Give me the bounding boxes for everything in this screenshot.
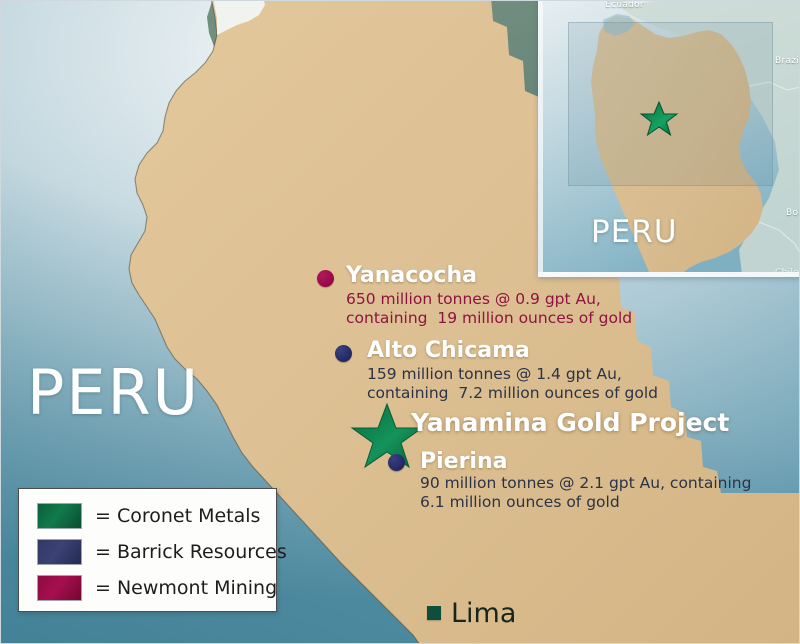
- inset-locator-map[interactable]: Ecuador Brazil Bol Chile PERU: [538, 0, 800, 277]
- site-name-yanacocha: Yanacocha: [346, 263, 477, 288]
- site-desc-alto-chicama-line1: 159 million tonnes @ 1.4 gpt Au,: [367, 364, 622, 384]
- project-name-label: Yanamina Gold Project: [411, 408, 729, 437]
- site-desc-yanacocha-line1: 650 million tonnes @ 0.9 gpt Au,: [346, 289, 601, 309]
- site-name-alto-chicama: Alto Chicama: [367, 338, 530, 363]
- legend-swatch-newmont-mining: [37, 575, 82, 601]
- legend-panel: = Coronet Metals = Barrick Resources = N…: [18, 488, 277, 612]
- legend-item-newmont-mining[interactable]: = Newmont Mining: [19, 570, 276, 606]
- site-desc-pierina-line2: 6.1 million ounces of gold: [420, 492, 620, 512]
- legend-swatch-barrick-resources: [37, 539, 82, 565]
- legend-label-newmont-mining: = Newmont Mining: [95, 577, 277, 599]
- legend-label-coronet-metals: = Coronet Metals: [95, 505, 260, 527]
- site-name-pierina: Pierina: [420, 449, 507, 474]
- inset-label-brazil: Brazil: [775, 56, 800, 66]
- capital-square-icon: [427, 606, 441, 620]
- country-label-peru: PERU: [27, 356, 200, 429]
- inset-project-star-icon: [638, 98, 680, 140]
- barrick-dot-icon-alto-chicama: [335, 345, 352, 362]
- legend-label-barrick-resources: = Barrick Resources: [95, 541, 287, 563]
- inset-label-chile: Chile: [775, 268, 799, 277]
- legend-item-barrick-resources[interactable]: = Barrick Resources: [19, 534, 276, 570]
- capital-label-lima: Lima: [451, 598, 516, 629]
- site-desc-pierina-line1: 90 million tonnes @ 2.1 gpt Au, containi…: [420, 473, 751, 493]
- inset-title-peru: PERU: [591, 214, 678, 250]
- inset-label-bolivia: Bol: [786, 208, 800, 218]
- legend-swatch-coronet-metals: [37, 503, 82, 529]
- peru-gold-projects-map: PERU: [0, 0, 800, 644]
- inset-label-ecuador: Ecuador: [605, 0, 644, 10]
- newmont-dot-icon: [317, 270, 334, 287]
- site-desc-alto-chicama-line2: containing 7.2 million ounces of gold: [367, 383, 658, 403]
- site-desc-yanacocha-line2: containing 19 million ounces of gold: [346, 308, 632, 328]
- barrick-dot-icon-pierina: [388, 454, 405, 471]
- legend-item-coronet-metals[interactable]: = Coronet Metals: [19, 498, 276, 534]
